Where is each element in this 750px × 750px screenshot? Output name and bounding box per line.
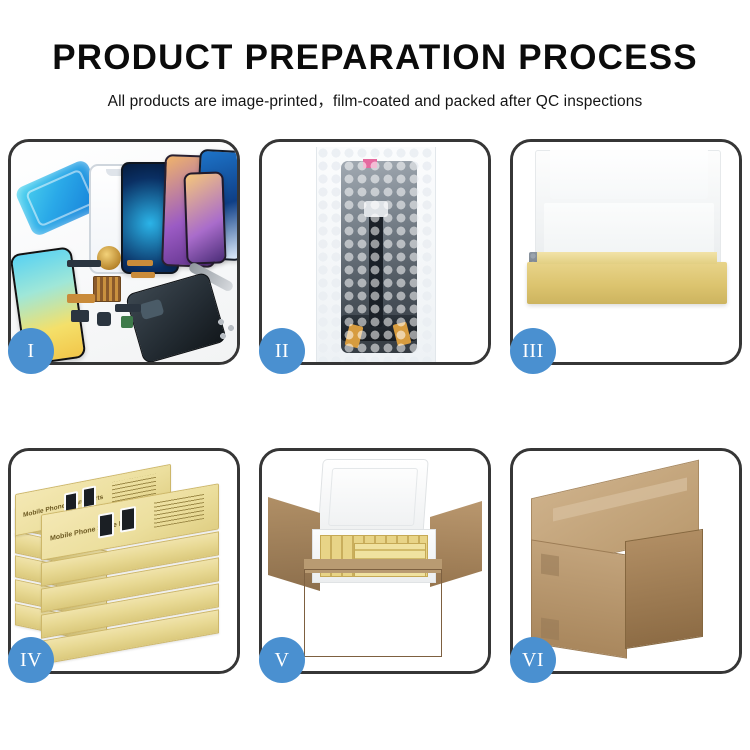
page-title: PRODUCT PREPARATION PROCESS (0, 38, 750, 78)
carton-side-face (625, 529, 703, 649)
product-preparation-page: PRODUCT PREPARATION PROCESS All products… (0, 0, 750, 750)
display-connector-icon (364, 201, 388, 217)
screws-icon (217, 318, 237, 344)
box-screen-graphic (98, 512, 114, 539)
flex-cable-gold-icon (67, 294, 95, 303)
carton-handle-tab-top (541, 554, 559, 577)
step-badge-6: VI (510, 637, 556, 683)
foam-lid-open-icon (317, 459, 428, 537)
process-step-panel-5: V (259, 448, 491, 674)
process-step-panel-3: III (510, 139, 742, 365)
flex-cable-icon (67, 260, 101, 267)
box-screen-graphic (120, 506, 136, 533)
step-badge-4: IV (8, 637, 54, 683)
process-step-panel-6: VI (510, 448, 742, 674)
page-header: PRODUCT PREPARATION PROCESS All products… (0, 0, 750, 111)
carton-body (304, 569, 442, 657)
connector-icon (115, 304, 141, 312)
carton-with-foam-image (262, 451, 488, 671)
process-step-panel-2: II (259, 139, 491, 365)
step-badge-1: I (8, 328, 54, 374)
flex-strip-2-icon (131, 272, 155, 278)
carton-handle-tab-bottom (541, 618, 559, 641)
kraft-tray-lip (537, 252, 717, 264)
parts-assortment-image (11, 142, 237, 362)
camera-module-icon (71, 310, 89, 322)
sealed-carton-image (513, 451, 739, 671)
pink-tape-icon (363, 159, 377, 168)
kraft-tray-icon (527, 262, 727, 304)
process-step-grid: I II (8, 139, 742, 674)
chip-grid-icon (93, 276, 121, 302)
open-flat-box-image (513, 142, 739, 362)
process-step-panel-1: I (8, 139, 240, 365)
vibrator-icon (97, 312, 111, 326)
process-step-panel-4: Mobile Phone Spare Parts Mobile Phone Sp… (8, 448, 240, 674)
flex-strip-icon (127, 260, 153, 266)
step-badge-5: V (259, 637, 305, 683)
bubble-bag-icon (316, 147, 436, 362)
box-stack: Mobile Phone Spare Parts Mobile Phone Sp… (11, 451, 237, 671)
step-badge-3: III (510, 328, 556, 374)
speaker-coil-icon (97, 246, 121, 270)
phone-display-amber-icon (183, 171, 226, 264)
display-flex-cable-icon (369, 207, 383, 327)
stacked-boxes-image: Mobile Phone Spare Parts Mobile Phone Sp… (11, 451, 237, 671)
step-badge-2: II (259, 328, 305, 374)
battery-icon (121, 316, 133, 328)
phone-chassis-icon (125, 272, 228, 362)
bubble-wrapped-screen-image (262, 142, 488, 362)
page-subtitle: All products are image-printed，film-coat… (0, 89, 750, 111)
